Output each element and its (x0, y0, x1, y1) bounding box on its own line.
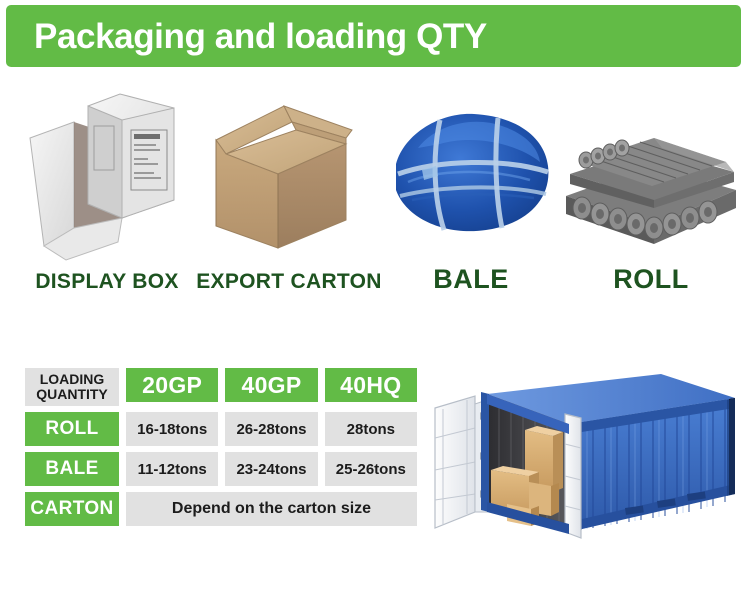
cell-bale-40gp: 23-24tons (225, 452, 317, 486)
product-label-export-carton: EXPORT CARTON (196, 270, 382, 294)
row-label-carton: CARTON (25, 492, 119, 526)
display-box-icon (14, 78, 200, 268)
page-title: Packaging and loading QTY (6, 19, 487, 54)
table-corner-label: LOADING QUANTITY (25, 368, 119, 406)
page-header-banner: Packaging and loading QTY (6, 5, 741, 67)
cell-bale-20gp: 11-12tons (126, 452, 218, 486)
column-header-40hq: 40HQ (325, 368, 417, 402)
shipping-container-icon (425, 352, 750, 557)
cell-roll-40gp: 26-28tons (225, 412, 317, 446)
table-header-row: LOADING QUANTITY 20GP 40GP 40HQ (25, 368, 417, 406)
product-label-bale: BALE (378, 264, 564, 295)
cell-roll-20gp: 16-18tons (126, 412, 218, 446)
product-image-row: DISPLAY BOX (0, 78, 750, 308)
corner-label-line1: LOADING (40, 372, 105, 387)
loading-quantity-table: LOADING QUANTITY 20GP 40GP 40HQ ROLL 16-… (25, 368, 417, 526)
bale-icon (378, 78, 564, 268)
row-label-roll: ROLL (25, 412, 119, 446)
roll-icon (558, 78, 744, 268)
export-carton-icon (196, 78, 382, 268)
product-roll: ROLL (558, 78, 744, 268)
product-export-carton: EXPORT CARTON (196, 78, 382, 268)
product-bale: BALE (378, 78, 564, 268)
corner-label-line2: QUANTITY (36, 387, 108, 402)
packaging-loading-infographic: Packaging and loading QTY (0, 0, 750, 600)
cell-roll-40hq: 28tons (325, 412, 417, 446)
table-row-carton: CARTON Depend on the carton size (25, 492, 417, 526)
table-row-roll: ROLL 16-18tons 26-28tons 28tons (25, 412, 417, 446)
row-label-bale: BALE (25, 452, 119, 486)
product-display-box: DISPLAY BOX (14, 78, 200, 268)
column-header-40gp: 40GP (225, 368, 317, 402)
product-label-display-box: DISPLAY BOX (14, 270, 200, 294)
table-row-bale: BALE 11-12tons 23-24tons 25-26tons (25, 452, 417, 486)
product-label-roll: ROLL (558, 264, 744, 295)
column-header-20gp: 20GP (126, 368, 218, 402)
cell-bale-40hq: 25-26tons (325, 452, 417, 486)
cell-carton-merged: Depend on the carton size (126, 492, 417, 526)
